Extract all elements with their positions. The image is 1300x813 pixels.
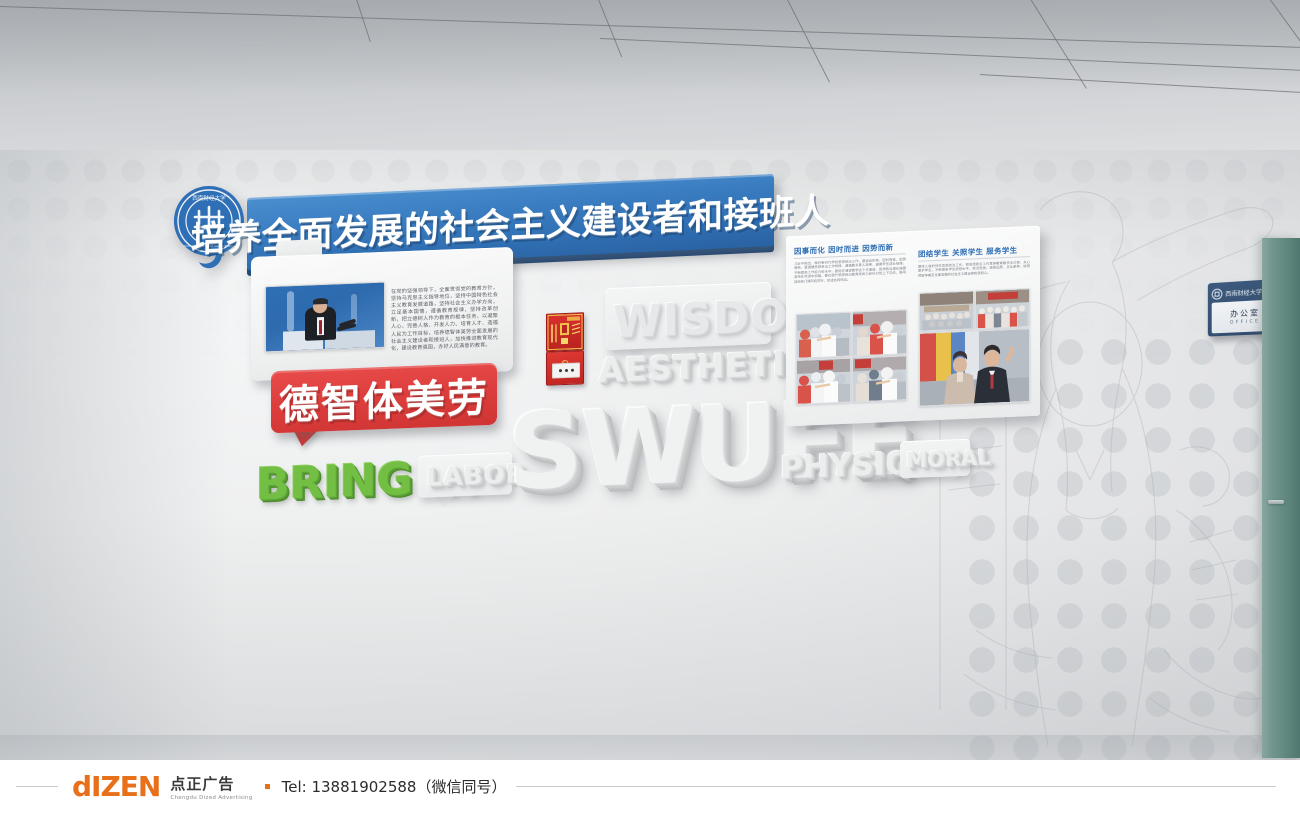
footer-telephone: Tel: 13881902588（微信同号） — [282, 776, 507, 797]
footer-rule-right — [516, 786, 1276, 787]
suspended-ceiling — [0, 0, 1300, 150]
door-sign-room-cn: 办公室 — [1230, 307, 1260, 319]
call-point-glass[interactable] — [552, 362, 580, 378]
moral-bubble-tail — [941, 475, 959, 489]
leader-speech-photo — [265, 282, 385, 353]
board-photo — [852, 309, 907, 356]
moral-text: MORAL — [906, 445, 991, 472]
company-name-block: 点正广告 Chengdu Dized Advertising — [170, 773, 252, 801]
board-photo — [919, 290, 974, 331]
red-slogan-bubble: 德智体美劳 — [271, 363, 497, 434]
dized-logo-text: dIZEN — [72, 770, 160, 803]
door-handle[interactable] — [1268, 500, 1284, 504]
company-name-cn: 点正广告 — [170, 773, 252, 794]
floor-shadow — [0, 735, 1300, 760]
right-display-board: 因事而化 因时而进 因势而新 习近平指出，做好新时代学校思想政治工作，要适应形势… — [786, 226, 1040, 427]
manual-fire-alarm-call-point[interactable] — [546, 350, 584, 385]
door-sign-room-en: OFFICE — [1230, 319, 1261, 325]
dized-logo: dIZEN — [72, 770, 160, 803]
door-sign-university: 西南财经大学 — [1225, 286, 1262, 297]
board-photo — [919, 328, 1030, 407]
board-photo — [975, 288, 1030, 329]
footer-rule-left — [16, 786, 58, 787]
screenshot-root: 西南财经大学 1925 UNIVERSITY OF FINANCE AND EC… — [0, 0, 1300, 813]
footer-bar: dIZEN 点正广告 Chengdu Dized Advertising Tel… — [0, 760, 1300, 813]
right-board-body-right: 要深入做好师生思想政治工作，把思想政治工作贯穿教育教学全过程，关心爱护学生，不断… — [918, 260, 1030, 289]
right-board-body-left: 习近平指出，做好新时代学校思想政治工作，要适应形势，因时而变、因势而新、要遵循思… — [794, 257, 906, 308]
fire-hose-cabinet-sign-icon — [546, 312, 584, 351]
red-slogan-text: 德智体美劳 — [271, 363, 497, 434]
company-name-en: Chengdu Dized Advertising — [170, 795, 252, 801]
left-panel-body-text: 在党的坚强领导下，全面贯彻党的教育方针，坚持马克思主义指导地位，坚持中国特色社会… — [391, 285, 498, 365]
swufe-seal-icon — [1212, 288, 1223, 300]
svg-text:西南财经大学: 西南财经大学 — [192, 194, 226, 202]
board-photo — [852, 355, 907, 402]
ceiling-soffit — [0, 0, 1300, 150]
board-photo — [796, 312, 851, 359]
board-photo — [796, 358, 851, 405]
office-door[interactable] — [1262, 238, 1300, 758]
footer-separator-dot — [265, 784, 270, 789]
